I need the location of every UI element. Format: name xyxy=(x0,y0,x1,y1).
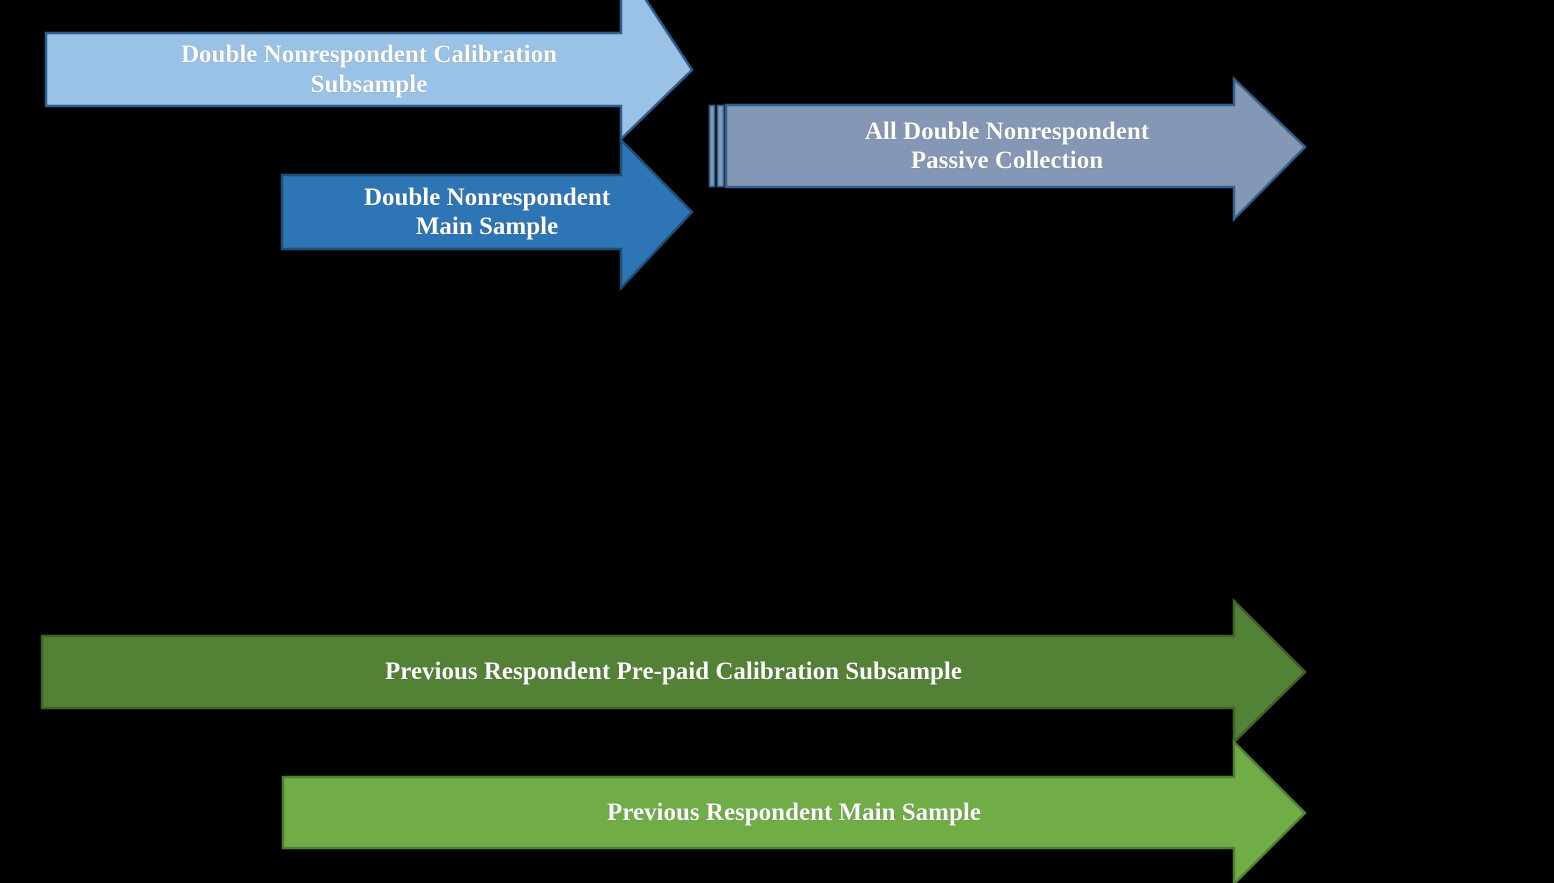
arrow-shape-double-nonrespondent-main-sample[interactable] xyxy=(282,140,692,288)
arrow-shape-all-double-nonrespondent-passive-collection[interactable] xyxy=(726,79,1305,219)
arrow-shapes-layer xyxy=(0,0,1554,883)
arrow-shape-previous-respondent-main-sample[interactable] xyxy=(283,742,1305,883)
arrow-shape-double-nonrespondent-calibration-subsample[interactable] xyxy=(46,0,692,139)
connector-tick-2 xyxy=(718,106,724,187)
arrow-shape-previous-respondent-prepaid-calibration-subsample[interactable] xyxy=(42,601,1305,742)
diagram-canvas: Double Nonrespondent Calibration Subsamp… xyxy=(0,0,1554,883)
connector-tick-1 xyxy=(710,106,715,187)
